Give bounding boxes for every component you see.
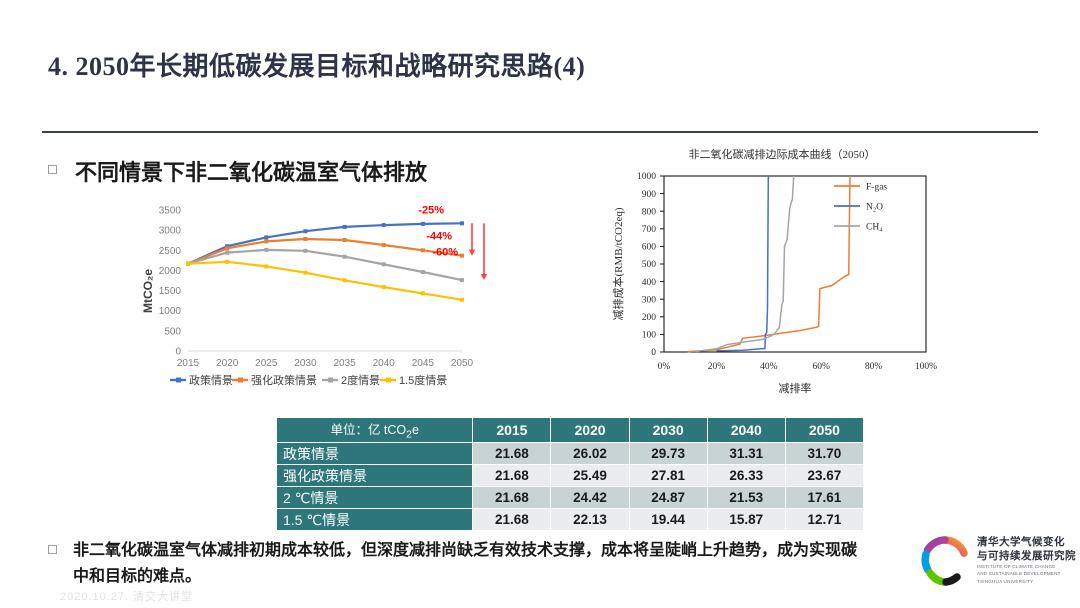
slide-root: 4. 2050年长期低碳发展目标和战略研究思路(4) 不同情景下非二氧化碳温室气…: [0, 0, 1080, 608]
series-marker: [460, 254, 464, 258]
series-marker: [421, 291, 425, 295]
logo-c-mark-icon: [920, 536, 970, 586]
table-row: 政策情景21.6826.0229.7331.3131.70: [277, 443, 864, 465]
x-tick-label: 2045: [412, 358, 435, 369]
y-tick-label: 500: [164, 326, 181, 337]
title-divider: [42, 131, 1038, 133]
mac-legend-label: N₂O: [866, 203, 883, 213]
y-tick-label: 2500: [159, 246, 182, 257]
mac-y-tick-label: 300: [642, 295, 657, 305]
table-cell: 17.61: [785, 487, 863, 509]
table-cell: 23.67: [785, 465, 863, 487]
table-row-label: 1.5 ℃情景: [277, 509, 473, 531]
series-marker: [225, 260, 229, 264]
line-chart-svg: 0500100015002000250030003500 20152020202…: [132, 196, 492, 392]
table-cell: 21.68: [473, 509, 551, 531]
table-row: 2 ℃情景21.6824.4224.8721.5317.61: [277, 487, 864, 509]
x-tick-label: 2030: [294, 358, 317, 369]
reduction-label: -44%: [426, 231, 452, 243]
table-head: 单位：亿 tCO2e 2015 2020 2030 2040 2050: [277, 418, 864, 443]
mac-y-tick-label: 800: [642, 207, 657, 217]
reduction-arrow-head: [481, 274, 487, 280]
table-cell: 25.49: [551, 465, 629, 487]
table-cell: 21.53: [707, 487, 785, 509]
scenario-data-table: 单位：亿 tCO2e 2015 2020 2030 2040 2050 政策情景…: [276, 417, 864, 531]
bottom-note: 非二氧化碳温室气体减排初期成本较低，但深度减排尚缺乏有效技术支撑，成本将呈陡峭上…: [48, 538, 868, 591]
series-marker: [421, 222, 425, 226]
mac-legend: F-gasN₂OCH₄: [834, 183, 887, 233]
y-tick-label: 0: [175, 347, 181, 358]
y-tick-label: 3000: [159, 226, 182, 237]
mac-chart-svg: 01002003004005006007008009001000 0%20%40…: [606, 166, 958, 398]
series-marker: [343, 225, 347, 229]
mac-x-tick-label: 20%: [708, 362, 726, 372]
x-tick-label: 2040: [373, 358, 396, 369]
table-header-cell: 2015: [473, 418, 551, 443]
table-cell: 12.71: [785, 509, 863, 531]
reduction-label: -25%: [418, 204, 444, 216]
table-cell: 21.68: [473, 443, 551, 465]
logo-en-line3: TSINGHUA UNIVERSITY: [977, 579, 1076, 586]
table-cell: 31.70: [785, 443, 863, 465]
series-marker: [460, 278, 464, 282]
reduction-label: -60%: [432, 247, 458, 259]
logo-cn-line1: 清华大学气候变化: [977, 536, 1076, 549]
series-marker: [421, 248, 425, 252]
mac-x-tick-label: 80%: [865, 362, 883, 372]
line-chart-legend: 政策情景强化政策情景2度情景1.5度情景: [170, 373, 447, 387]
section-heading-label: 不同情景下非二氧化碳温室气体排放: [75, 155, 427, 187]
mac-y-tick-label: 700: [642, 225, 657, 235]
bottom-note-text: 非二氧化碳温室气体减排初期成本较低，但深度减排尚缺乏有效技术支撑，成本将呈陡峭上…: [73, 538, 868, 591]
table-body: 政策情景21.6826.0229.7331.3131.70强化政策情景21.68…: [277, 443, 864, 531]
table-cell: 19.44: [629, 509, 707, 531]
series-marker: [303, 249, 307, 253]
series-marker: [343, 238, 347, 242]
legend-label: 1.5度情景: [399, 373, 447, 387]
table-cell: 26.02: [551, 443, 629, 465]
table-row: 1.5 ℃情景21.6822.1319.4415.8712.71: [277, 509, 864, 531]
section-heading: 不同情景下非二氧化碳温室气体排放: [48, 155, 427, 187]
x-tick-label: 2035: [333, 358, 356, 369]
logo-cn-line2: 与可持续发展研究院: [977, 550, 1076, 563]
series-marker: [186, 262, 190, 266]
institute-logo: 清华大学气候变化 与可持续发展研究院 INSTITUTE OF CLIMATE …: [920, 536, 1076, 586]
mac-y-tick-label: 600: [642, 243, 657, 253]
series-marker: [343, 278, 347, 282]
legend-marker: [386, 378, 391, 383]
watermark-text: 2020.10.27. 清交大讲堂: [60, 588, 193, 604]
bullet-square-icon: [48, 165, 57, 174]
series-marker: [460, 221, 464, 225]
mac-y-tick-label: 0: [651, 348, 656, 358]
table-cell: 24.42: [551, 487, 629, 509]
table-cell: 31.31: [707, 443, 785, 465]
mac-x-axis-label: 减排率: [779, 381, 812, 395]
mac-chart-title: 非二氧化碳减排边际成本曲线（2050）: [606, 146, 958, 162]
emission-scenarios-chart: 0500100015002000250030003500 20152020202…: [132, 196, 492, 392]
table-header-row: 单位：亿 tCO2e 2015 2020 2030 2040 2050: [277, 418, 864, 443]
table-row: 强化政策情景21.6825.4927.8126.3323.67: [277, 465, 864, 487]
x-tick-label: 2015: [177, 358, 200, 369]
series-marker: [264, 239, 268, 243]
series-marker: [225, 246, 229, 250]
y-tick-label: 2000: [159, 266, 182, 277]
legend-label: 强化政策情景: [251, 373, 317, 387]
mac-y-tick-label: 500: [642, 260, 657, 270]
table-header-unit: 单位：亿 tCO2e: [277, 418, 473, 443]
series-marker: [264, 248, 268, 252]
mac-y-tick-label: 200: [642, 313, 657, 323]
mac-series-line: [716, 176, 768, 351]
series-marker: [264, 264, 268, 268]
mac-plot-frame: [664, 176, 926, 352]
logo-text-block: 清华大学气候变化 与可持续发展研究院 INSTITUTE OF CLIMATE …: [977, 536, 1076, 585]
x-tick-label: 2025: [255, 358, 278, 369]
mac-series-line: [695, 176, 793, 352]
series-marker: [460, 298, 464, 302]
mac-y-tick-label: 100: [642, 331, 657, 341]
table-header-cell: 2040: [707, 418, 785, 443]
series-marker: [264, 235, 268, 239]
legend-marker: [176, 378, 181, 383]
table-cell: 22.13: [551, 509, 629, 531]
table-header-cell: 2050: [785, 418, 863, 443]
table-cell: 15.87: [707, 509, 785, 531]
line-chart-y-axis-label: MtCO₂e: [141, 269, 155, 313]
mac-series-group: [688, 176, 850, 352]
page-title: 4. 2050年长期低碳发展目标和战略研究思路(4): [48, 46, 585, 83]
table-cell: 29.73: [629, 443, 707, 465]
series-marker: [382, 285, 386, 289]
series-marker: [382, 262, 386, 266]
mac-x-ticks: 0%20%40%60%80%100%: [658, 362, 938, 372]
bullet-square-icon: [48, 545, 57, 554]
table-cell: 24.87: [629, 487, 707, 509]
legend-label: 2度情景: [341, 373, 380, 387]
mac-y-ticks: 01002003004005006007008009001000: [637, 172, 664, 358]
table-row-label: 政策情景: [277, 443, 473, 465]
series-marker: [421, 270, 425, 274]
series-marker: [303, 271, 307, 275]
mac-x-tick-label: 0%: [658, 362, 671, 372]
y-tick-label: 1000: [159, 306, 182, 317]
line-chart-y-ticks: 0500100015002000250030003500: [159, 206, 182, 358]
table-header-cell: 2030: [629, 418, 707, 443]
line-chart-series-group: [186, 221, 464, 302]
table-cell: 26.33: [707, 465, 785, 487]
table-row-label: 2 ℃情景: [277, 487, 473, 509]
table-cell: 21.68: [473, 487, 551, 509]
series-marker: [343, 255, 347, 259]
series-marker: [225, 251, 229, 255]
mac-x-tick-label: 60%: [812, 362, 830, 372]
y-tick-label: 3500: [159, 206, 182, 217]
y-tick-label: 1500: [159, 286, 182, 297]
logo-en-line1: INSTITUTE OF CLIMATE CHANGE: [977, 564, 1076, 571]
table-row-label: 强化政策情景: [277, 465, 473, 487]
line-chart-x-ticks: 20152020202520302035204020452050: [177, 358, 474, 369]
series-marker: [303, 229, 307, 233]
table-header-cell: 2020: [551, 418, 629, 443]
x-tick-label: 2020: [216, 358, 239, 369]
series-line: [188, 223, 462, 263]
series-marker: [303, 237, 307, 241]
mac-y-tick-label: 400: [642, 278, 657, 288]
logo-en-line2: AND SUSTAINABLE DEVELOPMENT: [977, 571, 1076, 578]
mac-y-axis-label: 减排成本(RMB/tCO2eq): [611, 207, 625, 320]
mac-y-tick-label: 1000: [637, 172, 656, 182]
table-cell: 27.81: [629, 465, 707, 487]
series-marker: [382, 243, 386, 247]
mac-legend-label: CH₄: [866, 223, 883, 233]
mac-x-tick-label: 100%: [915, 362, 937, 372]
mac-y-tick-label: 900: [642, 190, 657, 200]
legend-marker: [328, 378, 333, 383]
x-tick-label: 2050: [451, 358, 474, 369]
table-cell: 21.68: [473, 465, 551, 487]
mac-legend-label: F-gas: [866, 183, 887, 193]
mac-x-tick-label: 40%: [760, 362, 778, 372]
mac-curve-chart: 非二氧化碳减排边际成本曲线（2050） 01002003004005006007…: [606, 146, 958, 396]
legend-marker: [238, 378, 243, 383]
series-marker: [382, 223, 386, 227]
reduction-arrow-head: [469, 250, 475, 256]
legend-label: 政策情景: [189, 373, 233, 387]
